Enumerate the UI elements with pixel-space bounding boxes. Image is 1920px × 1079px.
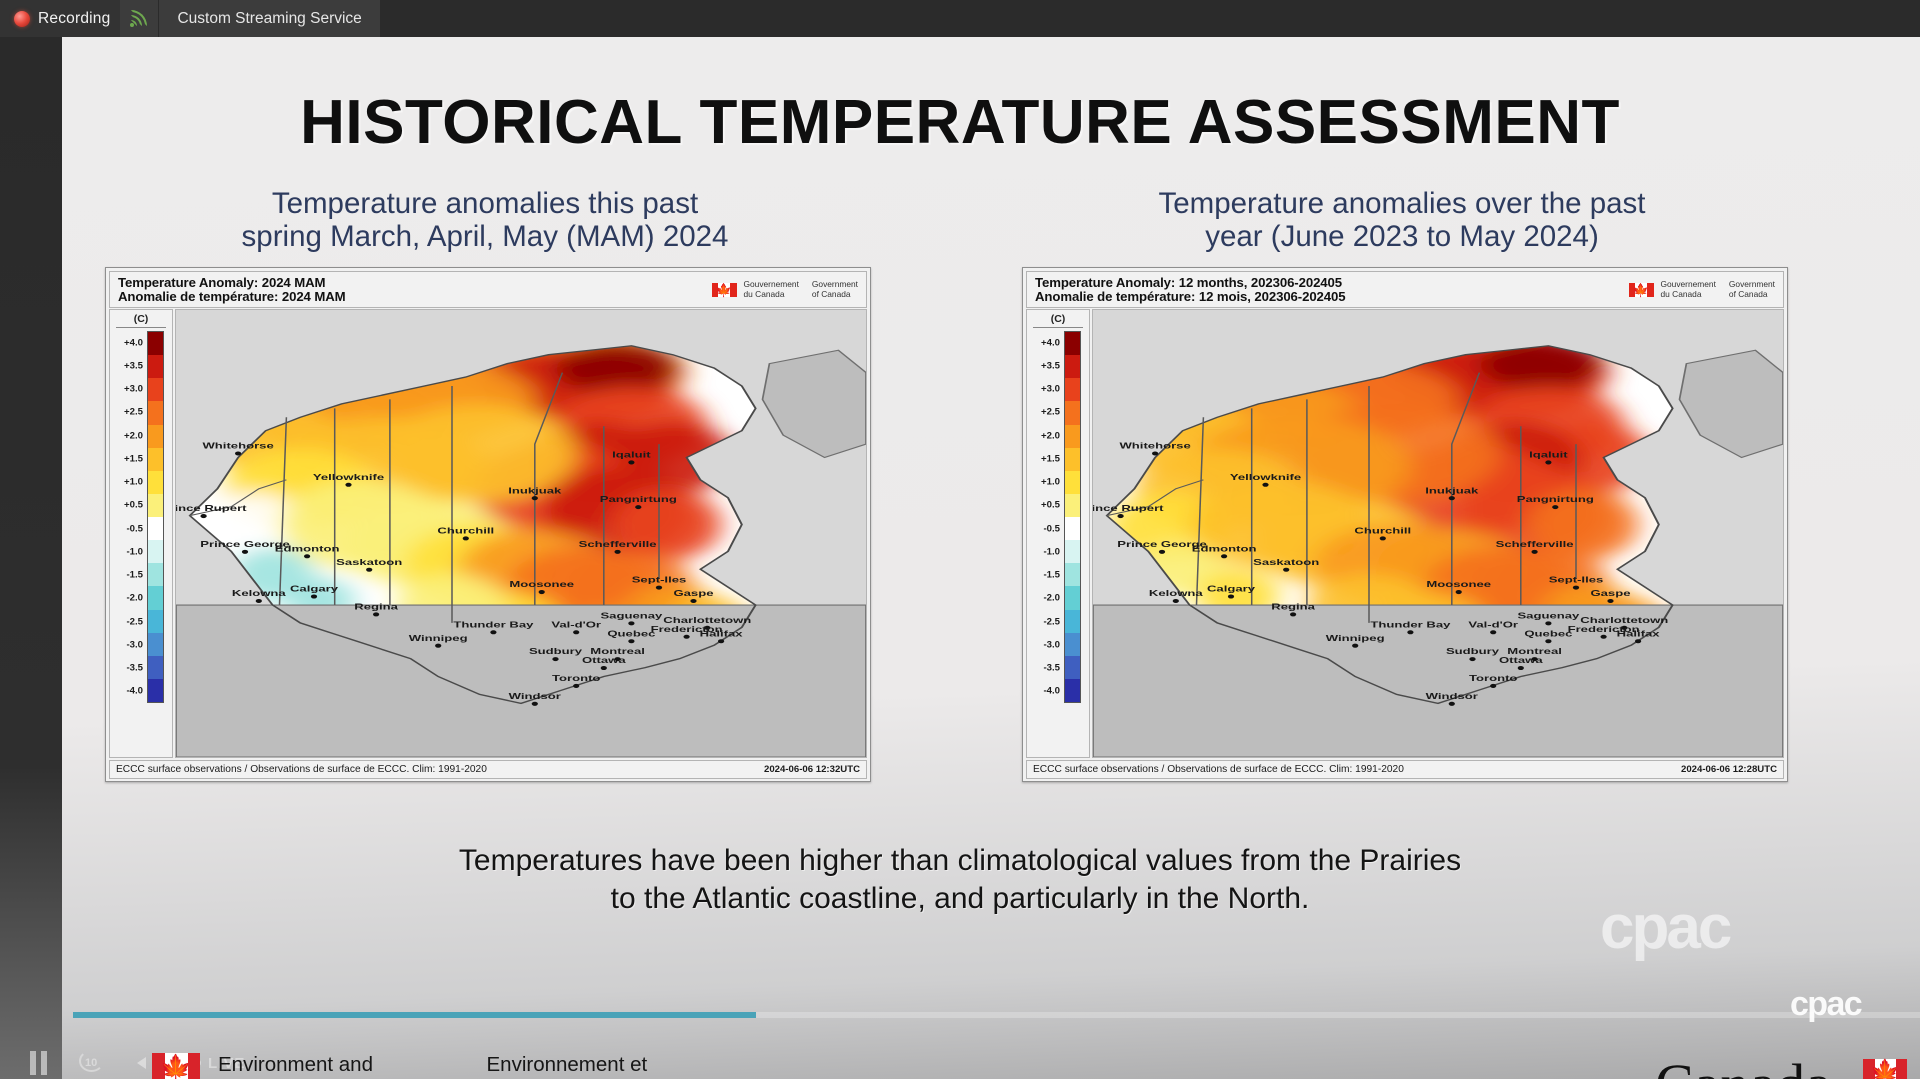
- legend-tick: +3.5: [1041, 360, 1060, 371]
- stream-service-label[interactable]: Custom Streaming Service: [159, 0, 379, 37]
- legend-tick: +1.5: [124, 453, 143, 464]
- panel-mam-2024: Temperature anomalies this past spring M…: [105, 187, 865, 782]
- svg-text:Thunder Bay: Thunder Bay: [453, 621, 534, 630]
- svg-text:Fredericton: Fredericton: [651, 625, 723, 634]
- panel-heading-left-line1: Temperature anomalies this past: [105, 187, 865, 220]
- legend-tick: -2.0: [1043, 593, 1060, 604]
- figure-mam-2024: Temperature Anomaly: 2024 MAM Anomalie d…: [105, 267, 871, 782]
- record-dot-icon: [14, 11, 30, 27]
- figure-title-en-right: Temperature Anomaly: 12 months, 202306-2…: [1035, 276, 1346, 290]
- svg-text:Calgary: Calgary: [290, 585, 339, 594]
- legend-tick: -3.5: [1043, 663, 1060, 674]
- legend-tick: -1.5: [1043, 570, 1060, 581]
- legend-tick: -2.0: [126, 593, 143, 604]
- legend-tick: -4.0: [1043, 686, 1060, 697]
- svg-text:Montreal: Montreal: [590, 647, 645, 656]
- svg-text:Fredericton: Fredericton: [1568, 625, 1640, 634]
- svg-text:Iqaluit: Iqaluit: [612, 451, 651, 460]
- panel-heading-right-line1: Temperature anomalies over the past: [1022, 187, 1782, 220]
- eccc-name-en: Environment and Climate Change Canada: [218, 1053, 443, 1079]
- wordmark-en-left: Government of Canada: [812, 280, 858, 300]
- legend-colorbar-left: [147, 331, 164, 703]
- progress-fill: [73, 1012, 756, 1018]
- svg-text:Iqaluit: Iqaluit: [1529, 451, 1568, 460]
- svg-text:Moosonee: Moosonee: [509, 580, 574, 589]
- legend-tick: +1.0: [1041, 477, 1060, 488]
- legend-ticks-left: +4.0+3.5+3.0+2.5+2.0+1.5+1.0+0.5-0.5-1.0…: [114, 331, 143, 703]
- svg-text:Prince Rupert: Prince Rupert: [1093, 504, 1164, 513]
- svg-text:Yellowknife: Yellowknife: [313, 473, 384, 482]
- svg-text:Val-d'Or: Val-d'Or: [1468, 621, 1519, 630]
- svg-text:Winnipeg: Winnipeg: [409, 634, 468, 643]
- zoom-top-bar: Recording Custom Streaming Service: [0, 0, 1920, 37]
- pause-icon[interactable]: [30, 1051, 47, 1075]
- figure-title-fr-right: Anomalie de température: 12 mois, 202306…: [1035, 290, 1346, 304]
- figure-timestamp-left: 2024-06-06 12:32UTC: [764, 764, 866, 775]
- caption-line-1: Temperatures have been higher than clima…: [0, 842, 1920, 880]
- svg-text:Edmonton: Edmonton: [1192, 545, 1257, 554]
- caption-line-2: to the Atlantic coastline, and particula…: [0, 880, 1920, 918]
- svg-text:Pangnirtung: Pangnirtung: [600, 495, 677, 504]
- svg-text:Thunder Bay: Thunder Bay: [1370, 621, 1451, 630]
- eccc-name-fr: Environnement et Changement climatique C…: [487, 1053, 780, 1079]
- panel-heading-right-line2: year (June 2023 to May 2024): [1022, 220, 1782, 253]
- legend-scale-left: +4.0+3.5+3.0+2.5+2.0+1.5+1.0+0.5-0.5-1.0…: [114, 331, 168, 703]
- colorbar-legend-left: (C) +4.0+3.5+3.0+2.5+2.0+1.5+1.0+0.5-0.5…: [109, 309, 173, 758]
- svg-text:Charlottetown: Charlottetown: [663, 616, 751, 625]
- svg-text:Saskatoon: Saskatoon: [1253, 558, 1320, 567]
- svg-text:Val-d'Or: Val-d'Or: [551, 621, 602, 630]
- legend-tick: -4.0: [126, 686, 143, 697]
- figure-source-left: ECCC surface observations / Observations…: [110, 764, 487, 775]
- svg-text:Inukjuak: Inukjuak: [508, 486, 562, 495]
- panel-heading-left: Temperature anomalies this past spring M…: [105, 187, 865, 267]
- legend-ticks-right: +4.0+3.5+3.0+2.5+2.0+1.5+1.0+0.5-0.5-1.0…: [1031, 331, 1060, 703]
- svg-text:Regina: Regina: [354, 603, 399, 612]
- legend-tick: -0.5: [1043, 523, 1060, 534]
- legend-tick: -0.5: [126, 523, 143, 534]
- svg-text:Saguenay: Saguenay: [1517, 612, 1580, 621]
- legend-tick: -3.5: [126, 663, 143, 674]
- page-title: HISTORICAL TEMPERATURE ASSESSMENT: [0, 87, 1920, 158]
- svg-text:Saguenay: Saguenay: [600, 612, 663, 621]
- figure-title-en-left: Temperature Anomaly: 2024 MAM: [118, 276, 346, 290]
- legend-tick: -1.0: [1043, 546, 1060, 557]
- eccc-brand: 🍁 Environment and Climate Change Canada …: [152, 1053, 779, 1079]
- replay-10-icon[interactable]: 10: [77, 1049, 107, 1077]
- canada-flag-icon: 🍁: [152, 1053, 200, 1079]
- canada-flag-icon: 🍁: [1863, 1059, 1907, 1079]
- svg-text:Montreal: Montreal: [1507, 647, 1562, 656]
- legend-tick: +4.0: [1041, 337, 1060, 348]
- legend-unit-left: (C): [110, 310, 172, 325]
- legend-scale-right: +4.0+3.5+3.0+2.5+2.0+1.5+1.0+0.5-0.5-1.0…: [1031, 331, 1085, 703]
- legend-unit-right: (C): [1027, 310, 1089, 325]
- svg-text:Churchill: Churchill: [437, 527, 494, 536]
- wordmark-fr-right: Gouvernement du Canada: [1661, 280, 1716, 300]
- legend-tick: +3.0: [1041, 384, 1060, 395]
- canada-flag-icon: 🍁: [1629, 283, 1654, 297]
- svg-text:Sudbury: Sudbury: [1446, 647, 1500, 656]
- svg-text:Sept-Iles: Sept-Iles: [632, 576, 687, 585]
- legend-tick: -2.5: [126, 616, 143, 627]
- figure-footer-right: ECCC surface observations / Observations…: [1026, 760, 1784, 779]
- svg-text:Windsor: Windsor: [509, 692, 562, 701]
- legend-tick: +2.5: [1041, 407, 1060, 418]
- slide-left-edge: [0, 37, 62, 1079]
- figure-timestamp-right: 2024-06-06 12:28UTC: [1681, 764, 1783, 775]
- svg-text:Gaspe: Gaspe: [673, 589, 713, 598]
- legend-tick: +2.0: [1041, 430, 1060, 441]
- svg-text:Windsor: Windsor: [1426, 692, 1479, 701]
- svg-text:Whitehorse: Whitehorse: [202, 442, 273, 451]
- svg-text:Sudbury: Sudbury: [529, 647, 583, 656]
- figure-header-right: Temperature Anomaly: 12 months, 202306-2…: [1026, 271, 1784, 308]
- svg-text:Gaspe: Gaspe: [1590, 589, 1630, 598]
- svg-text:Toronto: Toronto: [552, 674, 601, 683]
- figure-source-right: ECCC surface observations / Observations…: [1027, 764, 1404, 775]
- legend-tick: -3.0: [1043, 639, 1060, 650]
- legend-colorbar-right: [1064, 331, 1081, 703]
- goc-wordmark-left: 🍁 Gouvernement du Canada Government of C…: [712, 280, 867, 300]
- svg-text:Toronto: Toronto: [1469, 674, 1518, 683]
- svg-text:Inukjuak: Inukjuak: [1425, 486, 1479, 495]
- svg-text:Edmonton: Edmonton: [275, 545, 340, 554]
- legend-tick: +1.0: [124, 477, 143, 488]
- legend-tick: -1.0: [126, 546, 143, 557]
- canada-flag-icon: 🍁: [712, 283, 737, 297]
- svg-text:Schefferville: Schefferville: [1496, 540, 1574, 549]
- legend-tick: -1.5: [126, 570, 143, 581]
- svg-text:Ottawa: Ottawa: [582, 656, 627, 665]
- colorbar-legend-right: (C) +4.0+3.5+3.0+2.5+2.0+1.5+1.0+0.5-0.5…: [1026, 309, 1090, 758]
- panel-12-months: Temperature anomalies over the past year…: [1022, 187, 1782, 782]
- legend-tick: -2.5: [1043, 616, 1060, 627]
- svg-text:Sept-Iles: Sept-Iles: [1549, 576, 1604, 585]
- map-canvas-mam-2024: WhitehorseYellowknifeIqaluitPangnirtungC…: [175, 309, 867, 758]
- figure-12-months: Temperature Anomaly: 12 months, 202306-2…: [1022, 267, 1788, 782]
- presentation-slide: HISTORICAL TEMPERATURE ASSESSMENT Temper…: [0, 37, 1920, 1079]
- legend-tick: +0.5: [124, 500, 143, 511]
- svg-text:Ottawa: Ottawa: [1499, 656, 1544, 665]
- svg-text:Regina: Regina: [1271, 603, 1316, 612]
- svg-text:Whitehorse: Whitehorse: [1119, 442, 1190, 451]
- svg-text:Saskatoon: Saskatoon: [336, 558, 403, 567]
- legend-tick: +1.5: [1041, 453, 1060, 464]
- map-canvas-12-months: WhitehorseYellowknifeIqaluitPangnirtungC…: [1092, 309, 1784, 758]
- figure-header-left: Temperature Anomaly: 2024 MAM Anomalie d…: [109, 271, 867, 308]
- svg-text:Yellowknife: Yellowknife: [1230, 473, 1301, 482]
- svg-text:Schefferville: Schefferville: [579, 540, 657, 549]
- svg-text:Winnipeg: Winnipeg: [1326, 634, 1385, 643]
- svg-text:Prince Rupert: Prince Rupert: [176, 504, 247, 513]
- svg-text:Moosonee: Moosonee: [1426, 580, 1491, 589]
- svg-text:Quebec: Quebec: [607, 629, 655, 638]
- replay-value: 10: [85, 1057, 97, 1069]
- legend-tick: +2.5: [124, 407, 143, 418]
- screen-root: Recording Custom Streaming Service HISTO…: [0, 0, 1920, 1079]
- svg-text:Churchill: Churchill: [1354, 527, 1411, 536]
- legend-tick: +4.0: [124, 337, 143, 348]
- legend-tick: +2.0: [124, 430, 143, 441]
- figure-title-fr-left: Anomalie de température: 2024 MAM: [118, 290, 346, 304]
- panel-heading-right: Temperature anomalies over the past year…: [1022, 187, 1782, 267]
- slide-caption: Temperatures have been higher than clima…: [0, 842, 1920, 917]
- svg-text:Charlottetown: Charlottetown: [1580, 616, 1668, 625]
- legend-tick: +3.0: [124, 384, 143, 395]
- svg-text:Quebec: Quebec: [1524, 629, 1572, 638]
- svg-text:Calgary: Calgary: [1207, 585, 1256, 594]
- progress-bar[interactable]: [73, 1012, 1920, 1018]
- canada-wordmark: Canada: [1655, 1051, 1832, 1079]
- panel-heading-left-line2: spring March, April, May (MAM) 2024: [105, 220, 865, 253]
- wordmark-en-right: Government of Canada: [1729, 280, 1775, 300]
- wordmark-fr-left: Gouvernement du Canada: [744, 280, 799, 300]
- legend-tick: +0.5: [1041, 500, 1060, 511]
- recording-indicator[interactable]: Recording: [0, 0, 120, 37]
- legend-tick: -3.0: [126, 639, 143, 650]
- figure-footer-left: ECCC surface observations / Observations…: [109, 760, 867, 779]
- legend-tick: +3.5: [124, 360, 143, 371]
- recording-label: Recording: [38, 10, 110, 28]
- svg-text:Kelowna: Kelowna: [1149, 589, 1204, 598]
- broadcast-signal-icon[interactable]: [120, 0, 158, 37]
- svg-text:Kelowna: Kelowna: [232, 589, 287, 598]
- svg-text:Pangnirtung: Pangnirtung: [1517, 495, 1594, 504]
- goc-wordmark-right: 🍁 Gouvernement du Canada Government of C…: [1629, 280, 1784, 300]
